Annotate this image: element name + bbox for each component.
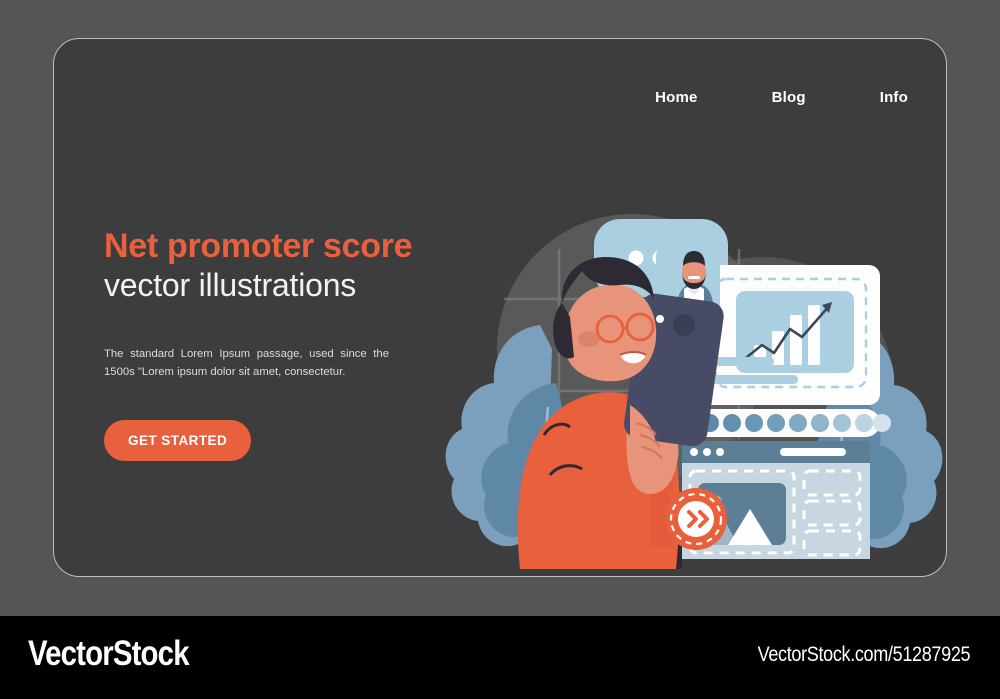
hero-title-accent: Net promoter score [104,229,454,265]
nav-item-blog[interactable]: Blog [772,89,806,106]
get-started-button[interactable]: GET STARTED [104,420,251,461]
net-promoter-score-illustration [444,139,944,569]
main-navigation: Home Blog Info [655,89,908,106]
hero-body-text: The standard Lorem Ipsum passage, used s… [104,345,389,382]
nav-item-info[interactable]: Info [880,89,908,106]
vectorstock-footer: VectorStock VectorStock.com/51287925 [0,616,1000,699]
hero-card: Home Blog Info Net promoter score vector… [53,38,947,577]
analytics-window [694,265,880,405]
hero-title-plain: vector illustrations [104,266,454,305]
screenshot-root: Home Blog Info Net promoter score vector… [0,0,1000,699]
nav-item-home[interactable]: Home [655,89,697,106]
progress-dot-bar [690,409,891,437]
vectorstock-url: VectorStock.com/51287925 [757,643,970,667]
vectorstock-logo: VectorStock [28,634,189,674]
hero-copy: Net promoter score vector illustrations … [104,229,454,461]
fast-forward-badge [665,488,727,550]
